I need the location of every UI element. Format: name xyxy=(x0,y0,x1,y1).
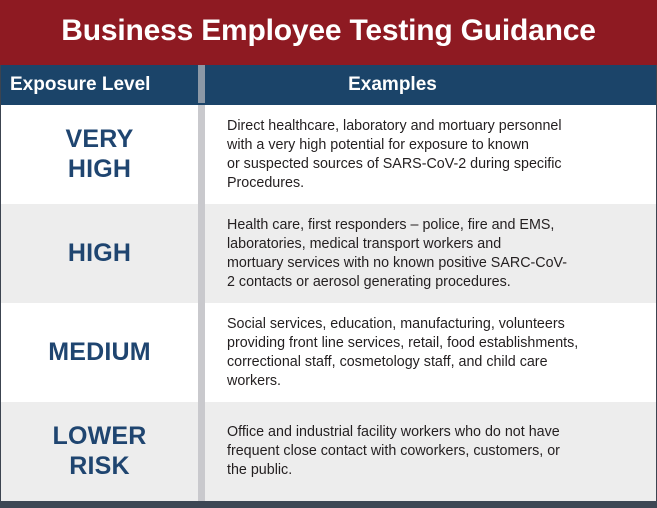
examples-line: correctional staff, cosmetology staff, a… xyxy=(227,353,578,372)
column-divider xyxy=(198,204,205,303)
examples-line: with a very high potential for exposure … xyxy=(227,136,562,155)
title-banner: Business Employee Testing Guidance xyxy=(0,0,657,65)
column-header-label: Examples xyxy=(348,75,437,94)
exposure-level-cell: VERY HIGH xyxy=(1,105,198,204)
guidance-table: Exposure Level Examples VERY HIGH Direct… xyxy=(0,65,657,501)
examples-line: or suspected sources of SARS-CoV-2 durin… xyxy=(227,155,562,174)
level-line: RISK xyxy=(52,452,146,482)
examples-cell: Office and industrial facility workers w… xyxy=(205,402,656,501)
examples-line: workers. xyxy=(227,372,578,391)
examples-line: mortuary services with no known positive… xyxy=(227,254,567,273)
table-row: LOWER RISK Office and industrial facilit… xyxy=(1,402,656,501)
exposure-level-cell: LOWER RISK xyxy=(1,402,198,501)
examples-line: Health care, first responders – police, … xyxy=(227,216,567,235)
footer-bar xyxy=(0,501,657,508)
exposure-level-cell: MEDIUM xyxy=(1,303,198,402)
column-divider xyxy=(198,402,205,501)
examples-cell: Health care, first responders – police, … xyxy=(205,204,656,303)
exposure-level-cell: HIGH xyxy=(1,204,198,303)
table-row: MEDIUM Social services, education, manuf… xyxy=(1,303,656,402)
table-row: VERY HIGH Direct healthcare, laboratory … xyxy=(1,105,656,204)
column-divider xyxy=(198,303,205,402)
examples-line: Social services, education, manufacturin… xyxy=(227,315,578,334)
column-divider xyxy=(198,65,205,103)
page-title: Business Employee Testing Guidance xyxy=(61,16,595,46)
examples-line: 2 contacts or aerosol generating procedu… xyxy=(227,273,567,292)
exposure-level-label: LOWER RISK xyxy=(52,422,146,481)
examples-text: Direct healthcare, laboratory and mortua… xyxy=(205,117,580,193)
infographic-root: Business Employee Testing Guidance Expos… xyxy=(0,0,657,500)
examples-line: the public. xyxy=(227,461,560,480)
table-header-row: Exposure Level Examples xyxy=(1,65,656,103)
examples-text: Social services, education, manufacturin… xyxy=(205,315,596,391)
examples-cell: Direct healthcare, laboratory and mortua… xyxy=(205,105,656,204)
examples-cell: Social services, education, manufacturin… xyxy=(205,303,656,402)
level-line: HIGH xyxy=(66,155,134,185)
examples-line: frequent close contact with coworkers, c… xyxy=(227,442,560,461)
examples-line: Direct healthcare, laboratory and mortua… xyxy=(227,117,562,136)
examples-line: providing front line services, retail, f… xyxy=(227,334,578,353)
exposure-level-label: VERY HIGH xyxy=(66,125,134,184)
header-cell-examples: Examples xyxy=(205,65,656,103)
level-line: VERY xyxy=(66,125,134,155)
level-line: MEDIUM xyxy=(48,338,151,368)
column-divider xyxy=(198,105,205,204)
column-header-label: Exposure Level xyxy=(10,75,150,94)
examples-text: Health care, first responders – police, … xyxy=(205,216,585,292)
examples-line: laboratories, medical transport workers … xyxy=(227,235,567,254)
exposure-level-label: MEDIUM xyxy=(48,338,151,368)
level-line: LOWER xyxy=(52,422,146,452)
examples-line: Procedures. xyxy=(227,174,562,193)
examples-line: Office and industrial facility workers w… xyxy=(227,423,560,442)
level-line: HIGH xyxy=(68,239,131,269)
exposure-level-label: HIGH xyxy=(68,239,131,269)
header-cell-exposure-level: Exposure Level xyxy=(1,65,198,103)
table-row: HIGH Health care, first responders – pol… xyxy=(1,204,656,303)
examples-text: Office and industrial facility workers w… xyxy=(205,423,578,480)
